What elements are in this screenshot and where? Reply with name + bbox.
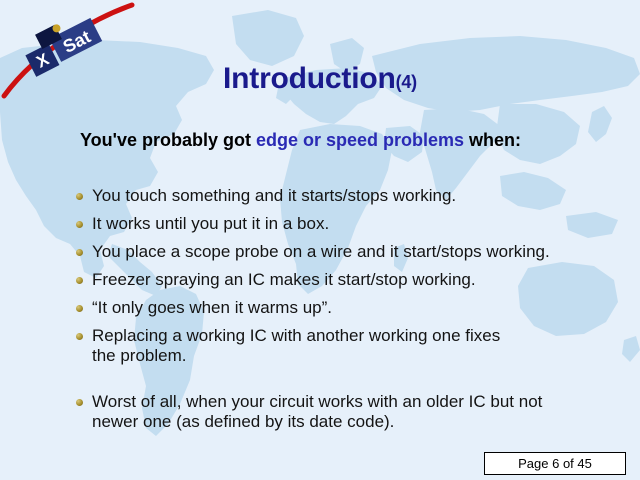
lead-prefix: You've probably got	[80, 130, 256, 150]
list-item: Freezer spraying an IC makes it start/st…	[74, 270, 630, 290]
list-item: Worst of all, when your circuit works wi…	[74, 392, 630, 432]
bullet-dot-icon	[76, 221, 83, 228]
slide-title: Introduction(4)	[0, 62, 640, 96]
list-item-label: You touch something and it starts/stops …	[92, 186, 630, 206]
list-item: It works until you put it in a box.	[74, 214, 630, 234]
slide-canvas: X Sat Introduction(4) You've probably go…	[0, 0, 640, 480]
bullet-list: You touch something and it starts/stops …	[74, 186, 630, 440]
list-item-label: It works until you put it in a box.	[92, 214, 630, 234]
bullet-dot-icon	[76, 193, 83, 200]
list-item-line2: the problem.	[92, 346, 630, 366]
list-item: You place a scope probe on a wire and it…	[74, 242, 630, 262]
page-indicator: Page 6 of 45	[484, 452, 626, 475]
list-item-label: You place a scope probe on a wire and it…	[92, 242, 630, 262]
list-item: “It only goes when it warms up”.	[74, 298, 630, 318]
list-item-line2: newer one (as defined by its date code).	[92, 412, 630, 432]
bullet-dot-icon	[76, 249, 83, 256]
list-item: You touch something and it starts/stops …	[74, 186, 630, 206]
bullet-dot-icon	[76, 399, 83, 406]
slide-title-number: (4)	[396, 72, 417, 92]
bullet-dot-icon	[76, 305, 83, 312]
slide-title-main: Introduction	[223, 62, 396, 95]
bullet-dot-icon	[76, 277, 83, 284]
list-item-label: “It only goes when it warms up”.	[92, 298, 630, 318]
bullet-dot-icon	[76, 333, 83, 340]
lead-suffix: when:	[464, 130, 521, 150]
list-item-label: Freezer spraying an IC makes it start/st…	[92, 270, 630, 290]
list-item-label: Replacing a working IC with another work…	[92, 326, 630, 366]
list-item-line1: Worst of all, when your circuit works wi…	[92, 392, 542, 411]
lead-statement: You've probably got edge or speed proble…	[80, 130, 521, 151]
list-item: Replacing a working IC with another work…	[74, 326, 630, 366]
list-item-label: Worst of all, when your circuit works wi…	[92, 392, 630, 432]
lead-highlight: edge or speed problems	[256, 130, 464, 150]
list-item-line1: Replacing a working IC with another work…	[92, 326, 500, 345]
